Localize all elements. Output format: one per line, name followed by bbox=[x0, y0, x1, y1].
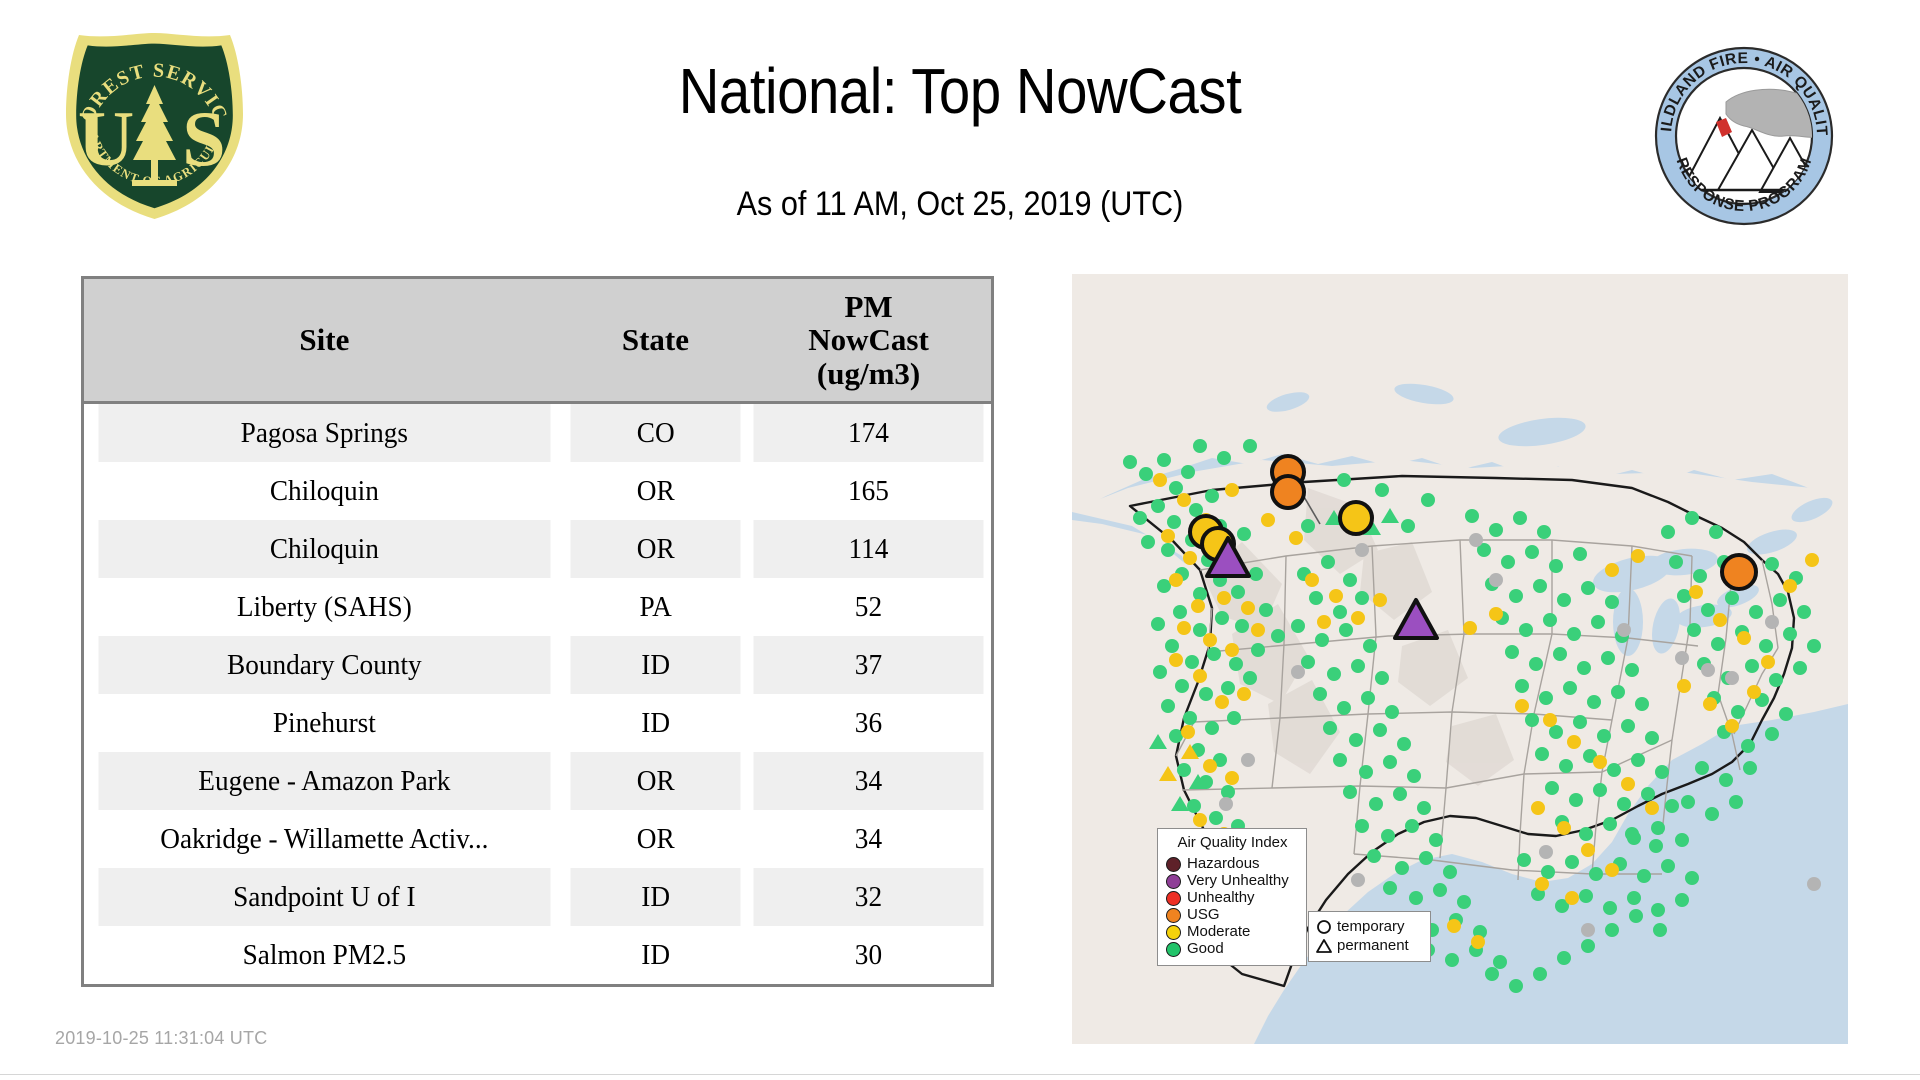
cell-state: OR bbox=[570, 520, 741, 578]
triangle-marker-icon bbox=[1316, 938, 1332, 954]
map-marker-sandpoint-u-of-i-id[interactable] bbox=[1272, 476, 1304, 508]
moderate-swatch-icon bbox=[1166, 925, 1181, 940]
legend-label: Hazardous bbox=[1187, 855, 1260, 873]
cell-state: OR bbox=[570, 810, 741, 868]
legend-item-good[interactable]: Good bbox=[1166, 941, 1299, 958]
wildland-fire-air-quality-seal-logo: WILDLAND FIRE • AIR QUALITY RESPONSE PRO… bbox=[1648, 40, 1840, 232]
top-nowcast-table-panel: Site State PM NowCast (ug/m3) Pagosa Spr… bbox=[81, 276, 994, 987]
page-subtitle: As of 11 AM, Oct 25, 2019 (UTC) bbox=[96, 185, 1824, 224]
table-row[interactable]: Salmon PM2.5 ID 30 bbox=[84, 926, 991, 984]
legend-label: USG bbox=[1187, 906, 1220, 924]
column-header-pm-nowcast[interactable]: PM NowCast (ug/m3) bbox=[746, 279, 991, 403]
pm-header-line-2: NowCast bbox=[746, 323, 991, 356]
cell-state: PA bbox=[570, 578, 741, 636]
column-header-site[interactable]: Site bbox=[84, 279, 565, 403]
cell-site: Chiloquin bbox=[98, 520, 550, 578]
legend-label: temporary bbox=[1337, 918, 1405, 936]
legend-item-temporary[interactable]: temporary bbox=[1316, 917, 1424, 936]
legend-item-permanent[interactable]: permanent bbox=[1316, 936, 1424, 955]
table-row[interactable]: Eugene - Amazon Park OR 34 bbox=[84, 752, 991, 810]
table-row[interactable]: Sandpoint U of I ID 32 bbox=[84, 868, 991, 926]
map-marker-salmon-pm25-id[interactable] bbox=[1340, 502, 1372, 534]
cell-value: 30 bbox=[753, 926, 983, 984]
table-row[interactable]: Chiloquin OR 114 bbox=[84, 520, 991, 578]
national-aqi-map[interactable]: Air Quality Index Hazardous Very Unhealt… bbox=[1072, 274, 1848, 1044]
legend-item-hazardous[interactable]: Hazardous bbox=[1166, 856, 1299, 873]
legend-label: Very Unhealthy bbox=[1187, 872, 1289, 890]
legend-label: Good bbox=[1187, 940, 1224, 958]
hazardous-swatch-icon bbox=[1166, 857, 1181, 872]
table-row[interactable]: Pagosa Springs CO 174 bbox=[84, 403, 991, 463]
cell-value: 34 bbox=[753, 752, 983, 810]
cell-site: Sandpoint U of I bbox=[98, 868, 550, 926]
usg-swatch-icon bbox=[1166, 908, 1181, 923]
cell-state: OR bbox=[570, 462, 741, 520]
legend-label: Unhealthy bbox=[1187, 889, 1255, 907]
cell-site: Salmon PM2.5 bbox=[98, 926, 550, 984]
legend-label: permanent bbox=[1337, 937, 1409, 955]
cell-state: ID bbox=[570, 636, 741, 694]
legend-item-moderate[interactable]: Moderate bbox=[1166, 924, 1299, 941]
cell-value: 37 bbox=[753, 636, 983, 694]
legend-item-usg[interactable]: USG bbox=[1166, 907, 1299, 924]
cell-site: Pagosa Springs bbox=[98, 403, 550, 463]
cell-site: Chiloquin bbox=[98, 462, 550, 520]
cell-site: Eugene - Amazon Park bbox=[98, 752, 550, 810]
cell-value: 114 bbox=[753, 520, 983, 578]
legend-title: Air Quality Index bbox=[1166, 834, 1299, 852]
table-row[interactable]: Chiloquin OR 165 bbox=[84, 462, 991, 520]
table-row[interactable]: Oakridge - Willamette Activ... OR 34 bbox=[84, 810, 991, 868]
unhealthy-swatch-icon bbox=[1166, 891, 1181, 906]
cell-value: 34 bbox=[753, 810, 983, 868]
cell-state: OR bbox=[570, 752, 741, 810]
page-bottom-divider bbox=[0, 1074, 1920, 1075]
legend-label: Moderate bbox=[1187, 923, 1250, 941]
table-row[interactable]: Pinehurst ID 36 bbox=[84, 694, 991, 752]
pm-header-line-1: PM bbox=[746, 290, 991, 323]
cell-value: 32 bbox=[753, 868, 983, 926]
table-row[interactable]: Liberty (SAHS) PA 52 bbox=[84, 578, 991, 636]
column-header-state[interactable]: State bbox=[565, 279, 746, 403]
cell-value: 165 bbox=[753, 462, 983, 520]
cell-state: ID bbox=[570, 694, 741, 752]
map-marker-liberty-sahs-pa[interactable] bbox=[1722, 555, 1756, 589]
page-title: National: Top NowCast bbox=[115, 54, 1805, 128]
table-row[interactable]: Boundary County ID 37 bbox=[84, 636, 991, 694]
table-header-row: Site State PM NowCast (ug/m3) bbox=[84, 279, 991, 403]
legend-item-unhealthy[interactable]: Unhealthy bbox=[1166, 890, 1299, 907]
cell-state: CO bbox=[570, 403, 741, 463]
very-unhealthy-swatch-icon bbox=[1166, 874, 1181, 889]
top-nowcast-table: Site State PM NowCast (ug/m3) Pagosa Spr… bbox=[84, 279, 991, 984]
legend-item-very-unhealthy[interactable]: Very Unhealthy bbox=[1166, 873, 1299, 890]
cell-value: 174 bbox=[753, 403, 983, 463]
cell-state: ID bbox=[570, 868, 741, 926]
cell-site: Boundary County bbox=[98, 636, 550, 694]
cell-site: Pinehurst bbox=[98, 694, 550, 752]
good-swatch-icon bbox=[1166, 942, 1181, 957]
cell-site: Liberty (SAHS) bbox=[98, 578, 550, 636]
generated-timestamp: 2019-10-25 11:31:04 UTC bbox=[55, 1028, 267, 1049]
air-quality-index-legend: Air Quality Index Hazardous Very Unhealt… bbox=[1157, 828, 1307, 966]
cell-state: ID bbox=[570, 926, 741, 984]
monitor-type-legend: temporary permanent bbox=[1308, 911, 1431, 962]
cell-value: 36 bbox=[753, 694, 983, 752]
cell-site: Oakridge - Willamette Activ... bbox=[98, 810, 550, 868]
cell-value: 52 bbox=[753, 578, 983, 636]
pm-header-line-3: (ug/m3) bbox=[746, 357, 991, 390]
circle-marker-icon bbox=[1316, 919, 1332, 935]
